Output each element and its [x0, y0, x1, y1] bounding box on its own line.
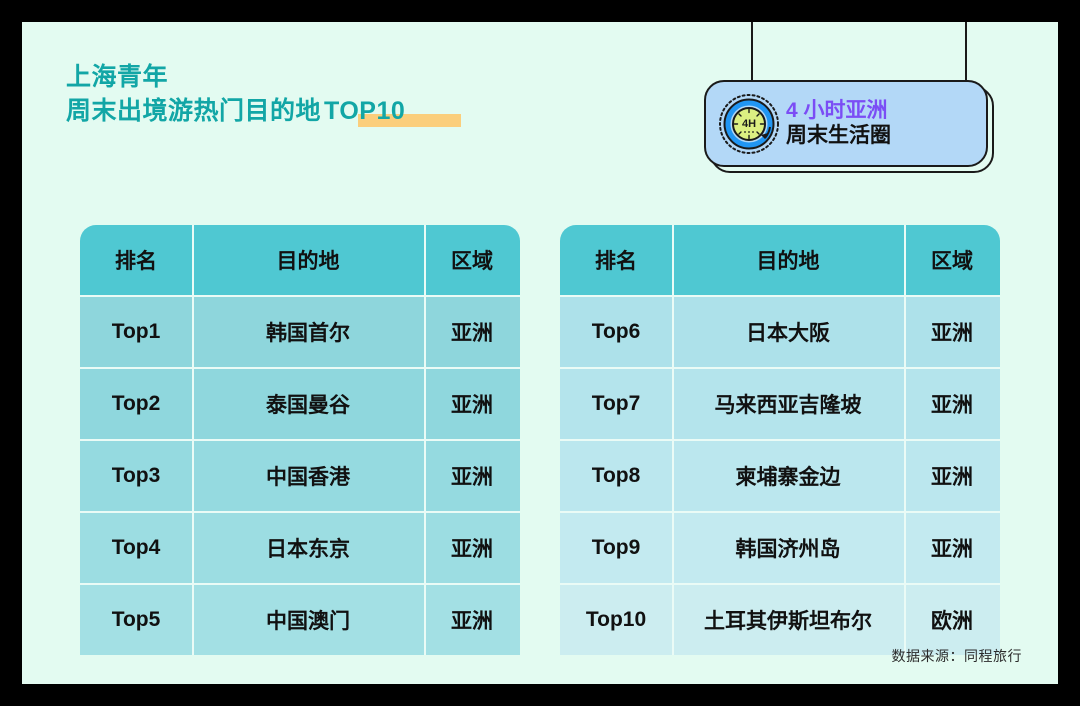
badge-string-right-icon — [965, 22, 967, 80]
badge-subline: 周末生活圈 — [786, 124, 891, 149]
table-cell-rank: Top10 — [560, 585, 672, 655]
table-cell-rank: Top6 — [560, 297, 672, 367]
column-divider — [904, 513, 906, 583]
table-row: Top5中国澳门亚洲 — [80, 585, 520, 655]
table-cell-destination: 泰国曼谷 — [192, 369, 424, 439]
cell-text: 中国香港 — [266, 461, 350, 491]
column-divider — [672, 585, 674, 655]
cell-text: Top1 — [112, 320, 161, 344]
table-cell-region: 亚洲 — [424, 585, 520, 655]
column-divider — [424, 585, 426, 655]
column-divider — [192, 513, 194, 583]
infographic-canvas: 上海青年 周末出境游热门目的地TOP10 — [22, 22, 1058, 684]
table-header-row: 排名目的地区域 — [560, 225, 1000, 295]
cell-text: Top3 — [112, 464, 161, 488]
table-cell-destination: 韩国济州岛 — [672, 513, 904, 583]
table-cell-region: 亚洲 — [424, 369, 520, 439]
table-cell-region: 亚洲 — [424, 513, 520, 583]
ranking-table-left: 排名目的地区域Top1韩国首尔亚洲Top2泰国曼谷亚洲Top3中国香港亚洲Top… — [80, 225, 520, 655]
table-header-destination: 目的地 — [192, 225, 424, 295]
cell-text: 亚洲 — [451, 605, 493, 635]
column-divider — [192, 369, 194, 439]
cell-text: Top2 — [112, 392, 161, 416]
table-row: Top3中国香港亚洲 — [80, 441, 520, 511]
badge-string-left-icon — [751, 22, 753, 80]
table-cell-region: 亚洲 — [904, 513, 1000, 583]
column-divider — [424, 369, 426, 439]
table-header-rank: 排名 — [560, 225, 672, 295]
table-cell-rank: Top1 — [80, 297, 192, 367]
cell-text: 目的地 — [757, 245, 820, 275]
title-top10: TOP10 — [321, 94, 408, 128]
cell-text: Top6 — [592, 320, 641, 344]
table-cell-rank: Top8 — [560, 441, 672, 511]
table-cell-rank: Top4 — [80, 513, 192, 583]
table-header-rank: 排名 — [80, 225, 192, 295]
cell-text: 柬埔寨金边 — [736, 461, 841, 491]
column-divider — [424, 441, 426, 511]
table-cell-rank: Top7 — [560, 369, 672, 439]
cell-text: Top10 — [586, 608, 646, 632]
cell-text: 泰国曼谷 — [266, 389, 350, 419]
cell-text: 亚洲 — [451, 533, 493, 563]
cell-text: 目的地 — [277, 245, 340, 275]
table-cell-destination: 中国香港 — [192, 441, 424, 511]
table-row: Top10土耳其伊斯坦布尔欧洲 — [560, 585, 1000, 655]
badge-body: 4H 4 小时亚洲 周末生活圈 — [704, 80, 988, 167]
cell-text: 亚洲 — [931, 533, 973, 563]
table-cell-destination: 日本大阪 — [672, 297, 904, 367]
column-divider — [904, 441, 906, 511]
column-divider — [192, 225, 194, 295]
column-divider — [672, 369, 674, 439]
cell-text: 区域 — [931, 245, 973, 275]
table-row: Top8柬埔寨金边亚洲 — [560, 441, 1000, 511]
column-divider — [904, 225, 906, 295]
title-subject: 周末出境游热门目的地 — [66, 97, 321, 125]
badge-headline: 4 小时亚洲 — [786, 99, 891, 124]
column-divider — [424, 513, 426, 583]
cell-text: 亚洲 — [931, 317, 973, 347]
cell-text: 日本东京 — [266, 533, 350, 563]
table-row: Top7马来西亚吉隆坡亚洲 — [560, 369, 1000, 439]
column-divider — [904, 585, 906, 655]
cell-text: 马来西亚吉隆坡 — [715, 389, 862, 419]
cell-text: 亚洲 — [931, 461, 973, 491]
column-divider — [672, 225, 674, 295]
cell-text: Top7 — [592, 392, 641, 416]
clock-4h-icon: 4H — [718, 93, 780, 155]
cell-text: 排名 — [115, 245, 157, 275]
cell-text: Top9 — [592, 536, 641, 560]
cell-text: 日本大阪 — [746, 317, 830, 347]
table-row: Top9韩国济州岛亚洲 — [560, 513, 1000, 583]
page-title: 上海青年 周末出境游热门目的地TOP10 — [66, 60, 408, 128]
table-header-region: 区域 — [904, 225, 1000, 295]
cell-text: 欧洲 — [931, 605, 973, 635]
table-cell-destination: 日本东京 — [192, 513, 424, 583]
cell-text: 韩国济州岛 — [736, 533, 841, 563]
table-header-region: 区域 — [424, 225, 520, 295]
table-cell-rank: Top2 — [80, 369, 192, 439]
column-divider — [904, 369, 906, 439]
column-divider — [672, 513, 674, 583]
table-row: Top2泰国曼谷亚洲 — [80, 369, 520, 439]
cell-text: 排名 — [595, 245, 637, 275]
cell-text: 中国澳门 — [266, 605, 350, 635]
table-row: Top1韩国首尔亚洲 — [80, 297, 520, 367]
table-cell-destination: 柬埔寨金边 — [672, 441, 904, 511]
column-divider — [192, 585, 194, 655]
data-source-note: 数据来源：同程旅行 — [892, 646, 1023, 666]
table-header-row: 排名目的地区域 — [80, 225, 520, 295]
table-cell-destination: 中国澳门 — [192, 585, 424, 655]
cell-text: 亚洲 — [451, 461, 493, 491]
table-cell-destination: 土耳其伊斯坦布尔 — [672, 585, 904, 655]
table-header-destination: 目的地 — [672, 225, 904, 295]
table-cell-region: 亚洲 — [424, 297, 520, 367]
cell-text: Top8 — [592, 464, 641, 488]
table-cell-destination: 韩国首尔 — [192, 297, 424, 367]
table-cell-region: 亚洲 — [904, 441, 1000, 511]
table-cell-region: 欧洲 — [904, 585, 1000, 655]
title-line-2: 周末出境游热门目的地TOP10 — [66, 94, 408, 128]
table-cell-rank: Top5 — [80, 585, 192, 655]
cell-text: 韩国首尔 — [266, 317, 350, 347]
hanging-badge: 4H 4 小时亚洲 周末生活圈 — [680, 22, 1000, 175]
cell-text: 区域 — [451, 245, 493, 275]
cell-text: Top5 — [112, 608, 161, 632]
table-cell-destination: 马来西亚吉隆坡 — [672, 369, 904, 439]
column-divider — [424, 225, 426, 295]
column-divider — [672, 297, 674, 367]
column-divider — [192, 441, 194, 511]
column-divider — [192, 297, 194, 367]
table-cell-region: 亚洲 — [904, 369, 1000, 439]
table-cell-region: 亚洲 — [424, 441, 520, 511]
cell-text: 亚洲 — [931, 389, 973, 419]
table-cell-rank: Top3 — [80, 441, 192, 511]
table-row: Top6日本大阪亚洲 — [560, 297, 1000, 367]
cell-text: Top4 — [112, 536, 161, 560]
ranking-table-right: 排名目的地区域Top6日本大阪亚洲Top7马来西亚吉隆坡亚洲Top8柬埔寨金边亚… — [560, 225, 1000, 655]
table-row: Top4日本东京亚洲 — [80, 513, 520, 583]
cell-text: 土耳其伊斯坦布尔 — [704, 605, 872, 635]
title-line-1: 上海青年 — [66, 60, 408, 94]
cell-text: 亚洲 — [451, 389, 493, 419]
clock-label: 4H — [742, 118, 756, 130]
column-divider — [424, 297, 426, 367]
cell-text: 亚洲 — [451, 317, 493, 347]
column-divider — [904, 297, 906, 367]
table-cell-rank: Top9 — [560, 513, 672, 583]
badge-text: 4 小时亚洲 周末生活圈 — [786, 99, 891, 149]
table-cell-region: 亚洲 — [904, 297, 1000, 367]
column-divider — [672, 441, 674, 511]
